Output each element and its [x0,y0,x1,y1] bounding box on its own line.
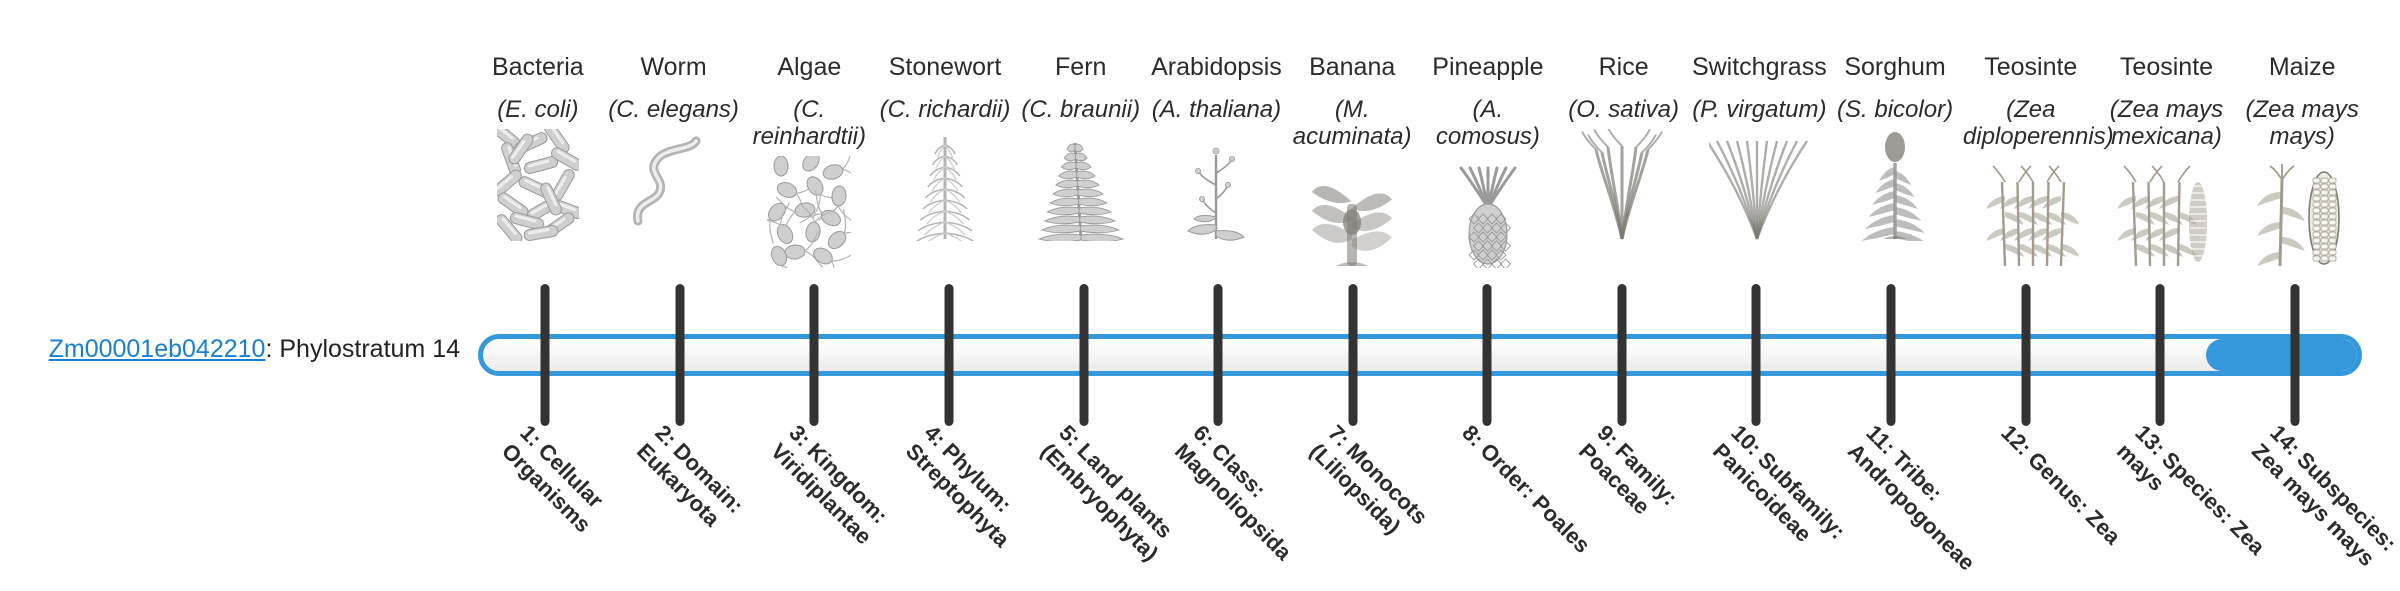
species-scientific-name: (E. coli) [497,96,578,123]
species-scientific-name: (C. reinhardtii) [741,96,877,150]
species-common-name: Switchgrass [1692,52,1827,82]
species-column: Algae(C. reinhardtii) [741,52,877,268]
species-common-name: Teosinte [2120,52,2213,82]
track-tick [1348,284,1357,426]
gene-id-link[interactable]: Zm00001eb042210 [49,335,266,363]
species-columns: Bacteria(E. coli) [470,52,2370,310]
stratum-name: Subfamily: Panicoideae [1708,438,1850,546]
species-illustration-bacteria [497,129,579,241]
stratum-name: Domain: Eukaryota [632,438,748,531]
species-illustration-pineapple [1446,156,1530,268]
species-illustration-rice [1576,129,1672,241]
track-tick [1214,284,1223,426]
stratum-name: Family: Poaceae [1574,438,1683,519]
stratum-name: Monocots (Liliopsida) [1305,438,1433,539]
stratum-name: Phylum: Streptophyta [901,438,1017,552]
species-scientific-name: (C. richardii) [880,96,1011,123]
track-tick [2156,284,2165,426]
species-common-name: Pineapple [1432,52,1543,82]
stratum-name: Genus: Zea [2023,447,2125,549]
species-scientific-name: (S. bicolor) [1837,96,1953,123]
species-column: Rice(O. sativa) [1556,52,1692,241]
stratum-number: 12: [1996,420,2036,460]
species-illustration-algae [767,156,851,268]
track-tick [1079,284,1088,426]
phylostratum-value-text: Phylostratum 14 [279,335,460,363]
stratum-label[interactable]: 7: Monocots (Liliopsida) [1304,420,1475,591]
species-scientific-name: (M. acuminata) [1284,96,1420,150]
species-illustration-stonewort [903,129,987,241]
species-scientific-name: (O. sativa) [1568,96,1679,123]
track-tick [541,284,550,426]
species-scientific-name: (C. braunii) [1021,96,1140,123]
species-column: Pineapple(A. comosus) [1420,52,1556,268]
species-illustration-banana [1306,156,1398,268]
species-illustration-maize [2250,156,2354,268]
species-illustration-sorghum [1849,129,1941,241]
phylostratum-track[interactable] [478,334,2362,376]
species-illustration-teosinte-diplo [1983,156,2079,268]
species-common-name: Sorghum [1844,52,1945,82]
species-column: Switchgrass(P. virgatum) [1691,52,1827,241]
species-column: Teosinte(Zea mays mexicana) [2099,52,2235,268]
track-tick [1617,284,1626,426]
species-common-name: Arabidopsis [1151,52,1282,82]
stratum-label[interactable]: 11: Tribe: Andropogoneae [1842,420,2013,591]
species-scientific-name: (Zea diploperennis) [1963,96,2099,150]
species-illustration-fern [1033,129,1129,241]
species-illustration-arabidopsis [1172,129,1260,241]
species-common-name: Fern [1055,52,1106,82]
gene-phylostratum-label: Zm00001eb042210: Phylostratum 14 [40,334,460,364]
species-scientific-name: (P. virgatum) [1692,96,1826,123]
species-common-name: Algae [777,52,841,82]
track-tick [2290,284,2299,426]
species-illustration-switchgrass [1709,129,1809,241]
stratum-name: Kingdom: Viridiplantae [766,438,893,549]
track-tick [1752,284,1761,426]
species-scientific-name: (Zea mays mexicana) [2099,96,2235,150]
species-common-name: Banana [1309,52,1395,82]
species-column: Arabidopsis(A. thaliana) [1149,52,1285,241]
track-tick [810,284,819,426]
track-tick [675,284,684,426]
species-common-name: Rice [1599,52,1649,82]
gene-label-separator: : [265,335,279,363]
species-column: Fern(C. braunii) [1013,52,1149,241]
species-scientific-name: (Zea mays mays) [2234,96,2370,150]
species-illustration-worm [626,129,722,241]
species-column: Stonewort(C. richardii) [877,52,1013,241]
track-tick [1887,284,1896,426]
phylostratum-figure: Zm00001eb042210: Phylostratum 14 Bacteri… [0,0,2400,580]
species-common-name: Teosinte [1984,52,2077,82]
species-common-name: Bacteria [492,52,584,82]
track-tick-group [478,334,2362,376]
species-column: Teosinte(Zea diploperennis) [1963,52,2099,268]
species-column: Sorghum(S. bicolor) [1827,52,1963,241]
species-column: Worm(C. elegans) [606,52,742,241]
track-tick [2021,284,2030,426]
species-illustration-teosinte-mex [2114,156,2218,268]
species-column: Banana(M. acuminata) [1284,52,1420,268]
species-scientific-name: (C. elegans) [608,96,739,123]
track-tick [1483,284,1492,426]
species-scientific-name: (A. thaliana) [1152,96,1281,123]
track-tick [945,284,954,426]
species-scientific-name: (A. comosus) [1420,96,1556,150]
species-column: Maize(Zea mays mays) [2234,52,2370,268]
stratum-name: Cellular Organisms [497,438,608,537]
species-common-name: Worm [640,52,706,82]
species-column: Bacteria(E. coli) [470,52,606,241]
species-common-name: Stonewort [889,52,1002,82]
species-common-name: Maize [2269,52,2336,82]
